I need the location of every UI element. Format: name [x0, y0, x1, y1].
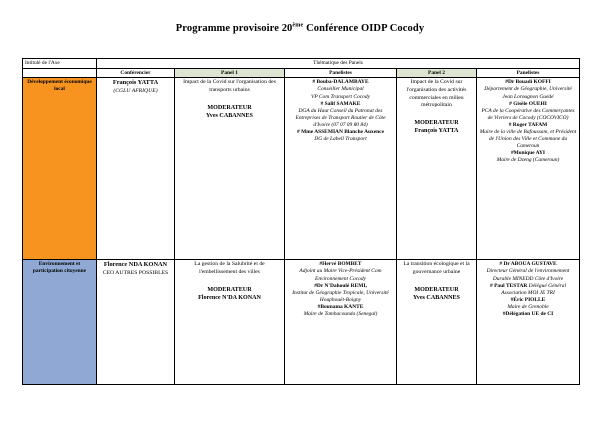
- conferencier-affiliation: (CGLU AFRIQUE): [99, 88, 172, 95]
- panelist-list: # Bouba-DALAMBAYEConseiller MunicipalVP …: [287, 79, 394, 143]
- panelist-role: DG de Labell Transport: [287, 136, 394, 143]
- header-panelistes-1: Panelistes: [285, 68, 397, 78]
- panel-2-theme: La transition écologique et la gouvernan…: [399, 261, 474, 276]
- panelist-role: Conseiller Municipal: [287, 86, 394, 93]
- panelist-list: # Dr ABOUA GUSTAVEDirecteur Général de l…: [479, 261, 577, 318]
- header-axis-spacer: [23, 68, 97, 78]
- panelist-name: # Salif SAMAKE: [321, 101, 361, 107]
- panelist-role: VP Com Transport Cocody: [287, 94, 394, 101]
- header-thematic-title: Thématique des Panels: [97, 58, 580, 68]
- panel-1-moderator: MODERATEURFlorence N'DA KONAN: [177, 286, 282, 302]
- page-title-rest: Conférence OIDP Cocody: [303, 23, 424, 34]
- conferencier-name: François YATTA: [99, 79, 172, 87]
- panelist-name: #Monique AYI: [511, 150, 545, 156]
- panelist-name: #Hervé BOMBET: [319, 261, 361, 267]
- panel-1-moderator-label: MODERATEUR: [177, 104, 282, 112]
- list-item: # Dr ABOUA GUSTAVEDirecteur Général de l…: [479, 261, 577, 282]
- document-page: Programme provisoire 20ème Conférence OI…: [0, 0, 600, 424]
- conferencier-name: Florence NDA KONAN: [99, 261, 172, 269]
- page-title: Programme provisoire 20ème Conférence OI…: [0, 0, 600, 36]
- panel-1-theme: Impact de la Covid sur l'organisation de…: [177, 79, 282, 94]
- list-item: # Paul TESTAR Délégué Général Associatio…: [479, 283, 577, 297]
- axis-label-cell: Environnement et participation citoyenne: [23, 260, 97, 385]
- panelistes-1-cell: #Hervé BOMBETAdjoint au Maire Vice-Prési…: [285, 260, 397, 385]
- list-item: #Dr Bouadi KOFFIDépartement de Géographi…: [479, 79, 577, 100]
- panelist-list: #Hervé BOMBETAdjoint au Maire Vice-Prési…: [287, 261, 394, 318]
- panel-2-moderator-name: Yves CABANNES: [399, 294, 474, 302]
- list-item: #Délégation UE de CI: [479, 311, 577, 318]
- conferencier-cell: François YATTA(CGLU AFRIQUE): [97, 78, 175, 260]
- table-body: Développement économique localFrançois Y…: [23, 78, 580, 385]
- table-row: Environnement et participation citoyenne…: [23, 260, 580, 385]
- panelist-name: # Paul TESTAR: [490, 283, 527, 289]
- panelist-role: Département de Géographie, Université Je…: [479, 86, 577, 100]
- panel-1-moderator-name: Florence N'DA KONAN: [177, 294, 282, 302]
- list-item: # Roger TAFAMMaire de la ville de Bafous…: [479, 122, 577, 150]
- panelist-role: Maire de Tambacounda (Senegal): [287, 311, 394, 318]
- panel-1-moderator-label: MODERATEUR: [177, 286, 282, 294]
- header-axis-title: Intitulé de l'Axe: [23, 58, 97, 68]
- panelist-list: #Dr Bouadi KOFFIDépartement de Géographi…: [479, 79, 577, 164]
- list-item: #Dr N'Dahoulé REMI,Institut de Géographi…: [287, 283, 394, 304]
- panelistes-2-cell: #Dr Bouadi KOFFIDépartement de Géographi…: [477, 78, 580, 260]
- list-item: #Monique AYIMaire de Dzeng (Cameroun): [479, 150, 577, 164]
- panel-2-moderator-name: François YATTA: [399, 127, 474, 135]
- header-panelistes-2: Panelistes: [477, 68, 580, 78]
- panelist-name: # Gisèle OUEHI: [509, 101, 547, 107]
- panelist-name: # Bouba-DALAMBAYE: [312, 79, 368, 85]
- panelist-role: Directeur Général de l'environnement Dur…: [479, 268, 577, 282]
- panel-2-moderator-label: MODERATEUR: [399, 119, 474, 127]
- panelist-name: #Bounama KANTE: [318, 304, 364, 310]
- panelist-name: # Dr ABOUA GUSTAVE: [499, 261, 556, 267]
- axis-label-cell: Développement économique local: [23, 78, 97, 260]
- panel-1-moderator-name: Yves CABANNES: [177, 112, 282, 120]
- header-conferencier: Conférencier: [97, 68, 175, 78]
- panelistes-1-cell: # Bouba-DALAMBAYEConseiller MunicipalVP …: [285, 78, 397, 260]
- panelist-role: Adjoint au Maire Vice-Président Com Envi…: [287, 268, 394, 282]
- panelist-role: Institut de Géographie Tropicale, Univer…: [287, 290, 394, 304]
- panelistes-2-cell: # Dr ABOUA GUSTAVEDirecteur Général de l…: [477, 260, 580, 385]
- panelist-name: #Éric PIOLLE: [511, 297, 546, 303]
- table-header-row-sub: Conférencier Panel 1 Panelistes Panel 2 …: [23, 68, 580, 78]
- panelist-name: # Roger TAFAM: [509, 122, 548, 128]
- page-title-main: Programme provisoire 20: [176, 23, 293, 34]
- conferencier-cell: Florence NDA KONANCEO AUTRES POSSIBLES: [97, 260, 175, 385]
- panel-2-moderator: MODERATEURFrançois YATTA: [399, 119, 474, 135]
- header-panel-2: Panel 2: [397, 68, 477, 78]
- panel-2-cell: Impact de la Covid sur l'organisation de…: [397, 78, 477, 260]
- panel-2-moderator-label: MODERATEUR: [399, 286, 474, 294]
- list-item: #Hervé BOMBETAdjoint au Maire Vice-Prési…: [287, 261, 394, 282]
- panel-2-moderator: MODERATEURYves CABANNES: [399, 286, 474, 302]
- header-panel-1: Panel 1: [175, 68, 285, 78]
- page-title-ordinal: ème: [292, 22, 303, 29]
- panel-1-cell: La gestion de la Salubrité et de l'embel…: [175, 260, 285, 385]
- panel-2-theme: Impact de la Covid sur l'organisation de…: [399, 79, 474, 109]
- panelist-role: Maire de Grenoble: [479, 304, 577, 311]
- list-item: # Mme ASSEMIAN Blanche AuxenceDG de Labe…: [287, 129, 394, 143]
- panel-2-cell: La transition écologique et la gouvernan…: [397, 260, 477, 385]
- list-item: VP Com Transport Cocody: [287, 94, 394, 101]
- panelist-role: Maire de Dzeng (Cameroun): [479, 157, 577, 164]
- list-item: #Bounama KANTEMaire de Tambacounda (Sene…: [287, 304, 394, 318]
- list-item: #Éric PIOLLEMaire de Grenoble: [479, 297, 577, 311]
- panelist-role: PCA de la Coopérative des Commerçantes d…: [479, 108, 577, 122]
- panelist-name: #Dr Bouadi KOFFI: [505, 79, 551, 85]
- panelist-role: Maire de la ville de Bafoussam, et Prési…: [479, 129, 577, 150]
- panelist-name: #Dr N'Dahoulé REMI,: [314, 283, 367, 289]
- list-item: # Gisèle OUEHIPCA de la Coopérative des …: [479, 101, 577, 122]
- panelist-role: DGA du Haut Conseil du Patronat des Entr…: [287, 108, 394, 129]
- list-item: # Bouba-DALAMBAYEConseiller Municipal: [287, 79, 394, 93]
- list-item: # Salif SAMAKEDGA du Haut Conseil du Pat…: [287, 101, 394, 129]
- panel-1-moderator: MODERATEURYves CABANNES: [177, 104, 282, 120]
- panelist-name: # Mme ASSEMIAN Blanche Auxence: [297, 129, 384, 135]
- table-row: Développement économique localFrançois Y…: [23, 78, 580, 260]
- conferencier-affiliation: CEO AUTRES POSSIBLES: [99, 270, 172, 277]
- table-header-row-top: Intitulé de l'Axe Thématique des Panels: [23, 58, 580, 68]
- panelist-name: #Délégation UE de CI: [503, 311, 554, 317]
- programme-table: Intitulé de l'Axe Thématique des Panels …: [22, 58, 580, 386]
- panel-1-cell: Impact de la Covid sur l'organisation de…: [175, 78, 285, 260]
- panel-1-theme: La gestion de la Salubrité et de l'embel…: [177, 261, 282, 276]
